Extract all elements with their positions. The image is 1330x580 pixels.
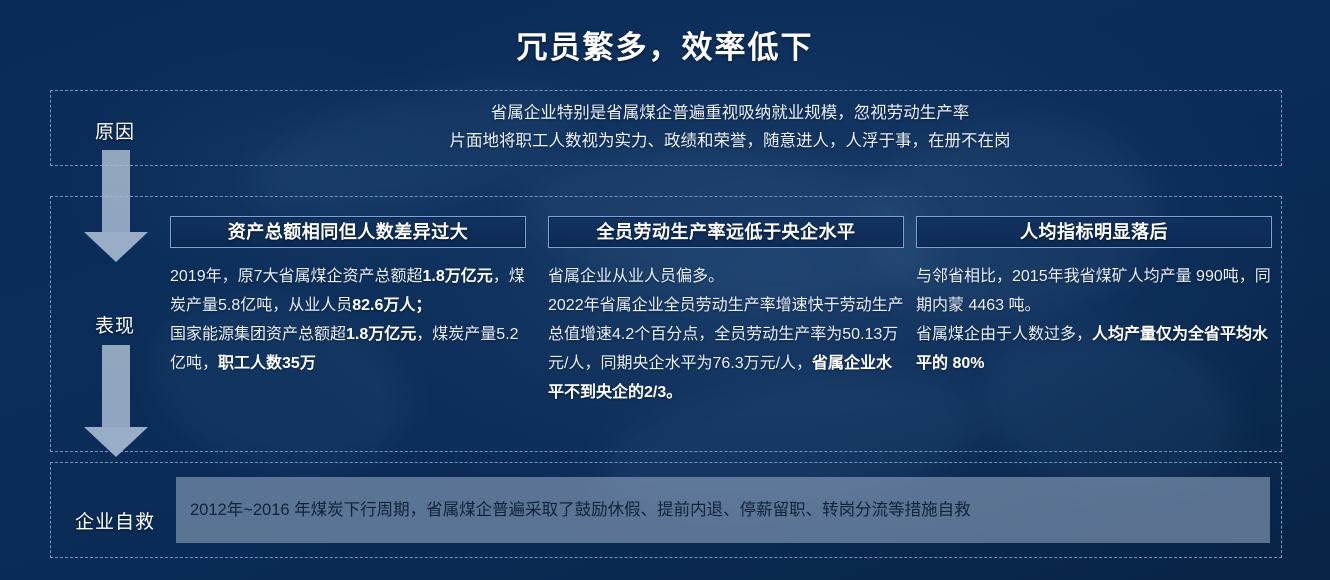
performance-column-2: 全员劳动生产率远低于央企水平 省属企业从业人员偏多。2022年省属企业全员劳动生…	[548, 216, 904, 407]
reason-line-1: 省属企业特别是省属煤企普遍重视吸纳就业规模，忽视劳动生产率	[190, 99, 1270, 127]
arrow-head	[84, 427, 148, 457]
reason-line-2: 片面地将职工人数视为实力、政绩和荣誉，随意进人，人浮于事，在册不在岗	[190, 127, 1270, 155]
row-label-reason: 原因	[55, 117, 175, 144]
rescue-body-text: 2012年~2016 年煤炭下行周期，省属煤企普遍采取了鼓励休假、提前内退、停薪…	[176, 497, 971, 523]
arrow-shaft	[102, 150, 130, 232]
column-3-body: 与邻省相比，2015年我省煤矿人均产量 990吨，同期内蒙 4463 吨。省属煤…	[916, 262, 1272, 378]
row-label-rescue: 企业自救	[55, 507, 175, 534]
body-paragraph: 省属煤企由于人数过多，人均产量仅为全省平均水平的 80%	[916, 320, 1272, 378]
slide-canvas: 冗员繁多，效率低下 原因 表现 企业自救 省属企业特别是省属煤企普遍重视吸纳就业…	[0, 0, 1330, 580]
column-2-heading: 全员劳动生产率远低于央企水平	[548, 216, 904, 248]
column-3-heading: 人均指标明显落后	[916, 216, 1272, 248]
body-paragraph: 2022年省属企业全员劳动生产率增速快于劳动生产总值增速4.2个百分点，全员劳动…	[548, 291, 904, 407]
body-paragraph: 国家能源集团资产总额超1.8万亿元，煤炭产量5.2亿吨，职工人数35万	[170, 320, 526, 378]
row-label-performance: 表现	[55, 311, 175, 338]
performance-column-3: 人均指标明显落后 与邻省相比，2015年我省煤矿人均产量 990吨，同期内蒙 4…	[916, 216, 1272, 378]
arrow-head	[84, 232, 148, 262]
slide-title: 冗员繁多，效率低下	[0, 22, 1330, 67]
column-1-heading: 资产总额相同但人数差异过大	[170, 216, 526, 248]
performance-column-1: 资产总额相同但人数差异过大 2019年，原7大省属煤企资产总额超1.8万亿元，煤…	[170, 216, 526, 378]
rescue-highlight-bar: 2012年~2016 年煤炭下行周期，省属煤企普遍采取了鼓励休假、提前内退、停薪…	[176, 477, 1270, 543]
arrow-shaft	[102, 345, 130, 427]
down-arrow-performance-to-rescue	[84, 345, 148, 457]
column-2-body: 省属企业从业人员偏多。2022年省属企业全员劳动生产率增速快于劳动生产总值增速4…	[548, 262, 904, 407]
body-paragraph: 省属企业从业人员偏多。	[548, 262, 904, 291]
body-paragraph: 2019年，原7大省属煤企资产总额超1.8万亿元，煤炭产量5.8亿吨，从业人员8…	[170, 262, 526, 320]
down-arrow-reason-to-performance	[84, 150, 148, 262]
body-paragraph: 与邻省相比，2015年我省煤矿人均产量 990吨，同期内蒙 4463 吨。	[916, 262, 1272, 320]
reason-body: 省属企业特别是省属煤企普遍重视吸纳就业规模，忽视劳动生产率 片面地将职工人数视为…	[190, 99, 1270, 155]
column-1-body: 2019年，原7大省属煤企资产总额超1.8万亿元，煤炭产量5.8亿吨，从业人员8…	[170, 262, 526, 378]
